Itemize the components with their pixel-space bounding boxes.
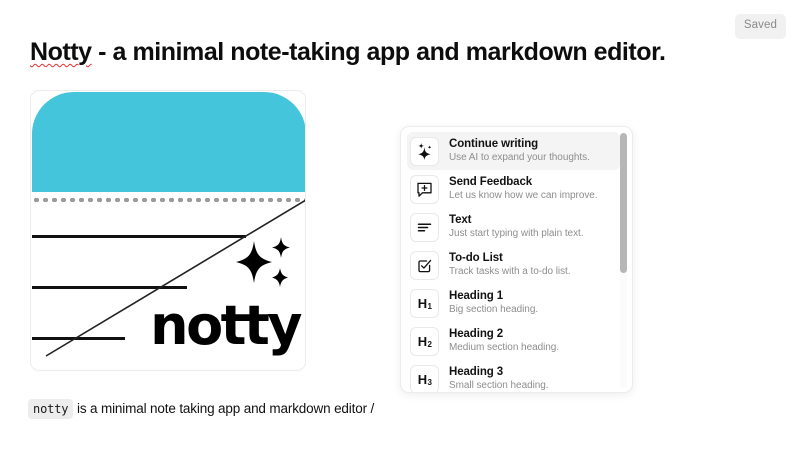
slash-menu-item-title: To-do List — [449, 251, 571, 265]
slash-menu-item-text: Send FeedbackLet us know how we can impr… — [449, 175, 598, 203]
slash-menu-item-description: Let us know how we can improve. — [449, 189, 598, 203]
slash-menu-item-title: Heading 1 — [449, 289, 538, 303]
message-plus-icon — [410, 175, 439, 204]
slash-menu-item-to-do-list[interactable]: To-do ListTrack tasks with a to-do list. — [407, 246, 620, 284]
page-title[interactable]: Notty - a minimal note-taking app and ma… — [30, 38, 666, 67]
logo-wordmark: notty — [150, 299, 300, 353]
slash-menu-item-heading-2[interactable]: H2Heading 2Medium section heading. — [407, 322, 620, 360]
slash-menu-item-text: Heading 2Medium section heading. — [449, 327, 559, 355]
page-title-misspelled-word: Notty — [30, 38, 92, 66]
slash-menu-list: Continue writingUse AI to expand your th… — [401, 127, 620, 393]
slash-menu-item-text: Heading 1Big section heading. — [449, 289, 538, 317]
slash-menu-item-text[interactable]: TextJust start typing with plain text. — [407, 208, 620, 246]
slash-menu-item-text: To-do ListTrack tasks with a to-do list. — [449, 251, 571, 279]
slash-menu-item-description: Use AI to expand your thoughts. — [449, 151, 590, 165]
slash-menu-item-text: TextJust start typing with plain text. — [449, 213, 583, 241]
slash-menu-item-description: Medium section heading. — [449, 341, 559, 355]
document-body-text: is a minimal note taking app and markdow… — [73, 401, 374, 416]
paragraph-lines-icon — [410, 213, 439, 242]
slash-menu-item-title: Send Feedback — [449, 175, 598, 189]
slash-menu-item-description: Big section heading. — [449, 303, 538, 317]
sparkle-icon — [232, 237, 294, 291]
menu-scrollbar-thumb[interactable] — [620, 133, 627, 273]
slash-menu-item-heading-1[interactable]: H1Heading 1Big section heading. — [407, 284, 620, 322]
inline-code-notty: notty — [28, 399, 73, 419]
slash-menu-item-title: Continue writing — [449, 137, 590, 151]
slash-menu-item-continue-writing[interactable]: Continue writingUse AI to expand your th… — [407, 132, 620, 170]
slash-menu-item-description: Small section heading. — [449, 379, 549, 393]
heading-1-icon: H1 — [410, 289, 439, 318]
status-badge: Saved — [735, 14, 786, 39]
slash-menu-item-title: Text — [449, 213, 583, 227]
heading-3-icon: H3 — [410, 365, 439, 394]
slash-menu-item-title: Heading 2 — [449, 327, 559, 341]
heading-2-icon: H2 — [410, 327, 439, 356]
slash-menu-item-description: Track tasks with a to-do list. — [449, 265, 571, 279]
checkbox-check-icon — [410, 251, 439, 280]
slash-menu-item-send-feedback[interactable]: Send FeedbackLet us know how we can impr… — [407, 170, 620, 208]
slash-menu-item-heading-3[interactable]: H3Heading 3Small section heading. — [407, 360, 620, 393]
slash-menu-item-text: Continue writingUse AI to expand your th… — [449, 137, 590, 165]
image-card[interactable]: notty — [30, 90, 306, 371]
slash-menu-item-title: Heading 3 — [449, 365, 549, 379]
slash-menu-item-description: Just start typing with plain text. — [449, 227, 583, 241]
slash-command-menu[interactable]: Continue writingUse AI to expand your th… — [400, 126, 633, 393]
slash-menu-item-text: Heading 3Small section heading. — [449, 365, 549, 393]
sparkle-icon — [410, 137, 439, 166]
page-title-rest: - a minimal note-taking app and markdown… — [92, 38, 666, 66]
document-body-line[interactable]: notty is a minimal note taking app and m… — [28, 399, 374, 419]
notepad-logo: notty — [32, 92, 306, 371]
menu-scrollbar-track[interactable] — [620, 133, 627, 388]
